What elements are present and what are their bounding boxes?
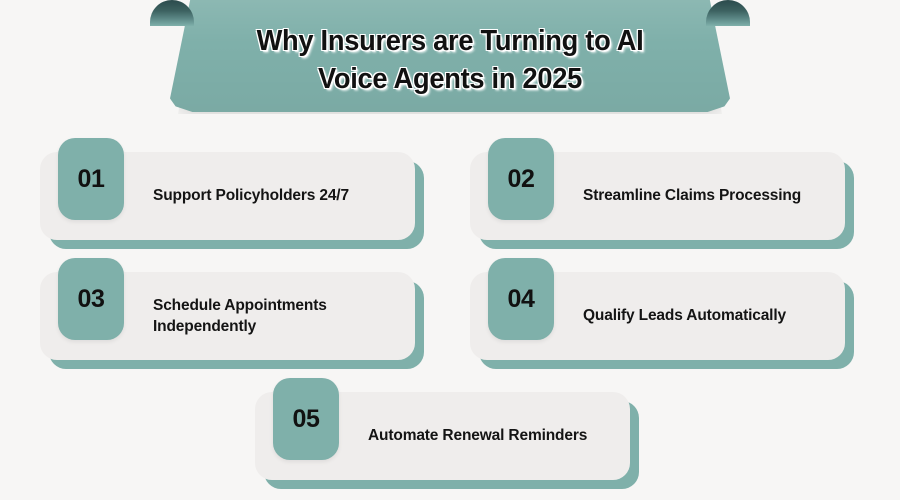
page-title: Why Insurers are Turning to AI Voice Age… xyxy=(206,22,695,99)
item-number-badge: 01 xyxy=(58,138,124,220)
item-label: Streamline Claims Processing xyxy=(583,152,831,240)
item-number-badge: 02 xyxy=(488,138,554,220)
item-label: Support Policyholders 24/7 xyxy=(153,152,401,240)
item-number: 04 xyxy=(507,285,534,314)
list-item: 04 Qualify Leads Automatically xyxy=(470,272,845,360)
item-number-badge: 05 xyxy=(273,378,339,460)
item-number: 05 xyxy=(292,405,319,434)
list-item: 01 Support Policyholders 24/7 xyxy=(40,152,415,240)
banner-fold-right-icon xyxy=(706,0,750,26)
list-item: 02 Streamline Claims Processing xyxy=(470,152,845,240)
banner-fold-left-icon xyxy=(150,0,194,26)
item-number: 01 xyxy=(77,165,104,194)
header-banner: Why Insurers are Turning to AI Voice Age… xyxy=(150,0,750,132)
item-label: Qualify Leads Automatically xyxy=(583,272,831,360)
list-item: 03 Schedule Appointments Independently xyxy=(40,272,415,360)
item-number-badge: 03 xyxy=(58,258,124,340)
list-item: 05 Automate Renewal Reminders xyxy=(255,392,630,480)
item-number-badge: 04 xyxy=(488,258,554,340)
item-number: 03 xyxy=(77,285,104,314)
item-label: Automate Renewal Reminders xyxy=(368,392,616,480)
infographic-canvas: Why Insurers are Turning to AI Voice Age… xyxy=(0,0,900,500)
item-number: 02 xyxy=(507,165,534,194)
item-label: Schedule Appointments Independently xyxy=(153,272,401,360)
